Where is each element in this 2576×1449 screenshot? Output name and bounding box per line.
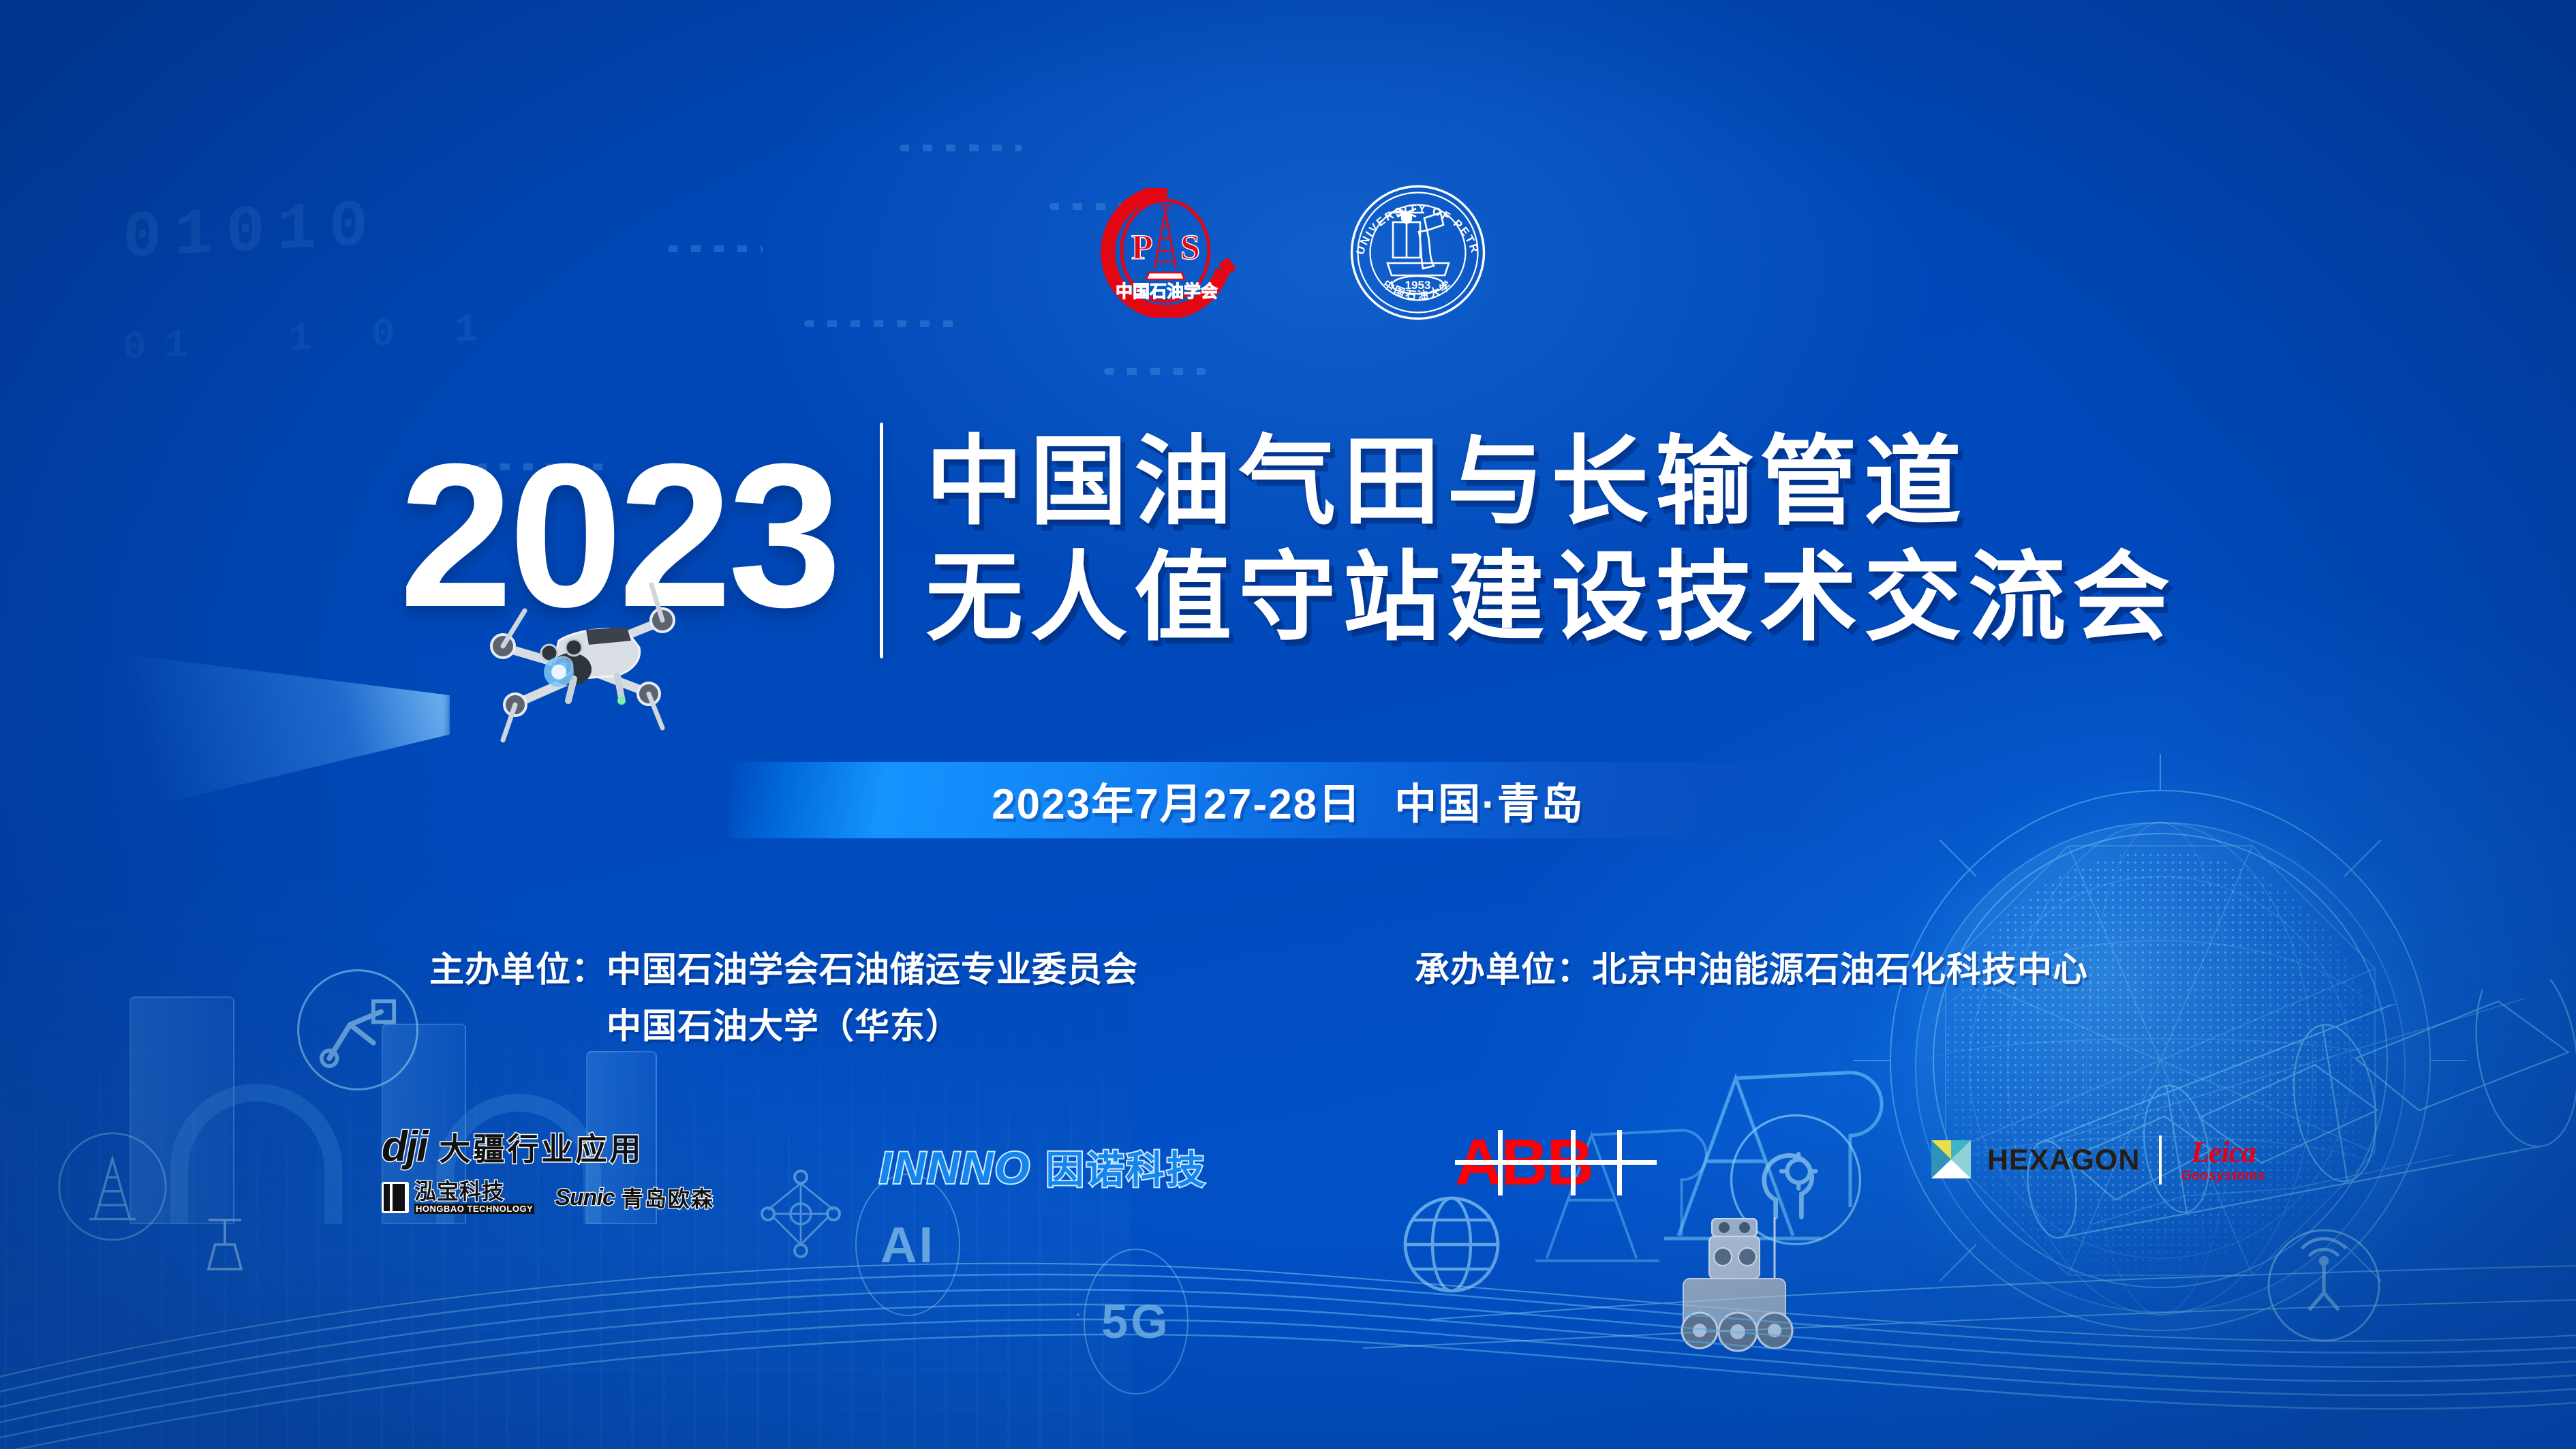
hongbao-english-label: HONGBAO TECHNOLOGY bbox=[414, 1204, 534, 1214]
dji-wordmark: dji bbox=[382, 1126, 427, 1168]
sponsor-abb: ABB bbox=[1455, 1130, 1593, 1195]
hexagon-wordmark: HEXAGON bbox=[1987, 1144, 2140, 1177]
innno-wordmark: INNNO bbox=[879, 1142, 1031, 1193]
abb-slash-icon bbox=[1617, 1130, 1622, 1195]
title-divider bbox=[880, 423, 883, 658]
sunic-chinese-label: 青岛欧森 bbox=[622, 1182, 714, 1213]
date-bar-container: 2023年7月27-28日 中国·青岛 bbox=[0, 762, 2576, 838]
hongbao-mark-icon bbox=[382, 1182, 409, 1213]
logo-divider bbox=[2159, 1135, 2162, 1185]
sponsor-sunic: Sunic 青岛欧森 bbox=[555, 1182, 714, 1213]
organizer-block: 主办单位：中国石油学会石油储运专业委员会 中国石油大学（华东） 承办单位：北京中… bbox=[0, 942, 2576, 1054]
co-host-organizer: 承办单位：北京中油能源石油石化科技中心 bbox=[1288, 942, 2297, 1054]
sponsor-logo-row: dji 大疆行业应用 泓宝科技 HONGBAO TECHNOLOGY Sunic… bbox=[0, 1118, 2576, 1240]
leica-subtitle: Geosystems bbox=[2181, 1169, 2265, 1183]
drone-illustration bbox=[423, 545, 743, 770]
sponsor-dji-group: dji 大疆行业应用 泓宝科技 HONGBAO TECHNOLOGY Sunic… bbox=[382, 1125, 714, 1215]
sponsor-leica: Leica Geosystems bbox=[2181, 1138, 2265, 1183]
cps-chinese-label: 中国石油学会 bbox=[1115, 281, 1217, 301]
conference-banner: 01010 01 1 0 1 bbox=[0, 0, 2576, 1449]
hongbao-chinese-label: 泓宝科技 bbox=[414, 1180, 534, 1202]
sunic-wordmark: Sunic bbox=[555, 1185, 615, 1211]
cup-founding-year: 1953 bbox=[1405, 279, 1430, 292]
abb-slash-icon bbox=[1498, 1130, 1503, 1195]
abb-slash-icon bbox=[1455, 1160, 1657, 1165]
innno-chinese-label: 因诺科技 bbox=[1046, 1140, 1207, 1195]
svg-text:P: P bbox=[1131, 228, 1153, 267]
cup-logo: CHINA UNIVERSITY OF PETROLEUM 中国石油大学 195… bbox=[1348, 183, 1488, 322]
svg-text:S: S bbox=[1180, 228, 1200, 267]
host-organizer: 主办单位：中国石油学会石油储运专业委员会 中国石油大学（华东） bbox=[279, 942, 1288, 1054]
location-text: 中国·青岛 bbox=[1394, 769, 1584, 831]
cps-logo: P S 中国石油学会 bbox=[1089, 188, 1246, 318]
dji-chinese-label: 大疆行业应用 bbox=[439, 1125, 643, 1170]
leica-wordmark: Leica bbox=[2181, 1138, 2265, 1168]
chinese-title: 中国油气田与长输管道 无人值守站建设技术交流会 bbox=[925, 431, 2177, 650]
host-line-2: 中国石油大学（华东） bbox=[279, 998, 1288, 1055]
abb-slash-icon bbox=[1571, 1130, 1576, 1195]
date-bar: 2023年7月27-28日 中国·青岛 bbox=[729, 762, 1847, 838]
title-block: 2023 中国油气田与长输管道 无人值守站建设技术交流会 bbox=[0, 423, 2576, 658]
host-line-1: 主办单位：中国石油学会石油储运专业委员会 bbox=[279, 942, 1288, 998]
sponsor-hexagon-leica: HEXAGON Leica Geosystems bbox=[1929, 1135, 2265, 1185]
title-line-2: 无人值守站建设技术交流会 bbox=[925, 547, 2177, 650]
sponsor-dji: dji 大疆行业应用 bbox=[382, 1125, 714, 1170]
co-host-line-1: 承办单位：北京中油能源石油石化科技中心 bbox=[1247, 942, 2256, 998]
sponsor-innno: INNNO 因诺科技 bbox=[879, 1140, 1207, 1195]
sponsor-hongbao: 泓宝科技 HONGBAO TECHNOLOGY bbox=[382, 1180, 534, 1215]
date-text: 2023年7月27-28日 bbox=[992, 769, 1362, 831]
title-line-1: 中国油气田与长输管道 bbox=[925, 431, 2177, 534]
top-logo-row: P S 中国石油学会 CHINA UNIVERSITY OF PETROLEUM bbox=[0, 183, 2576, 322]
hexagon-mark-icon bbox=[1929, 1136, 1974, 1184]
